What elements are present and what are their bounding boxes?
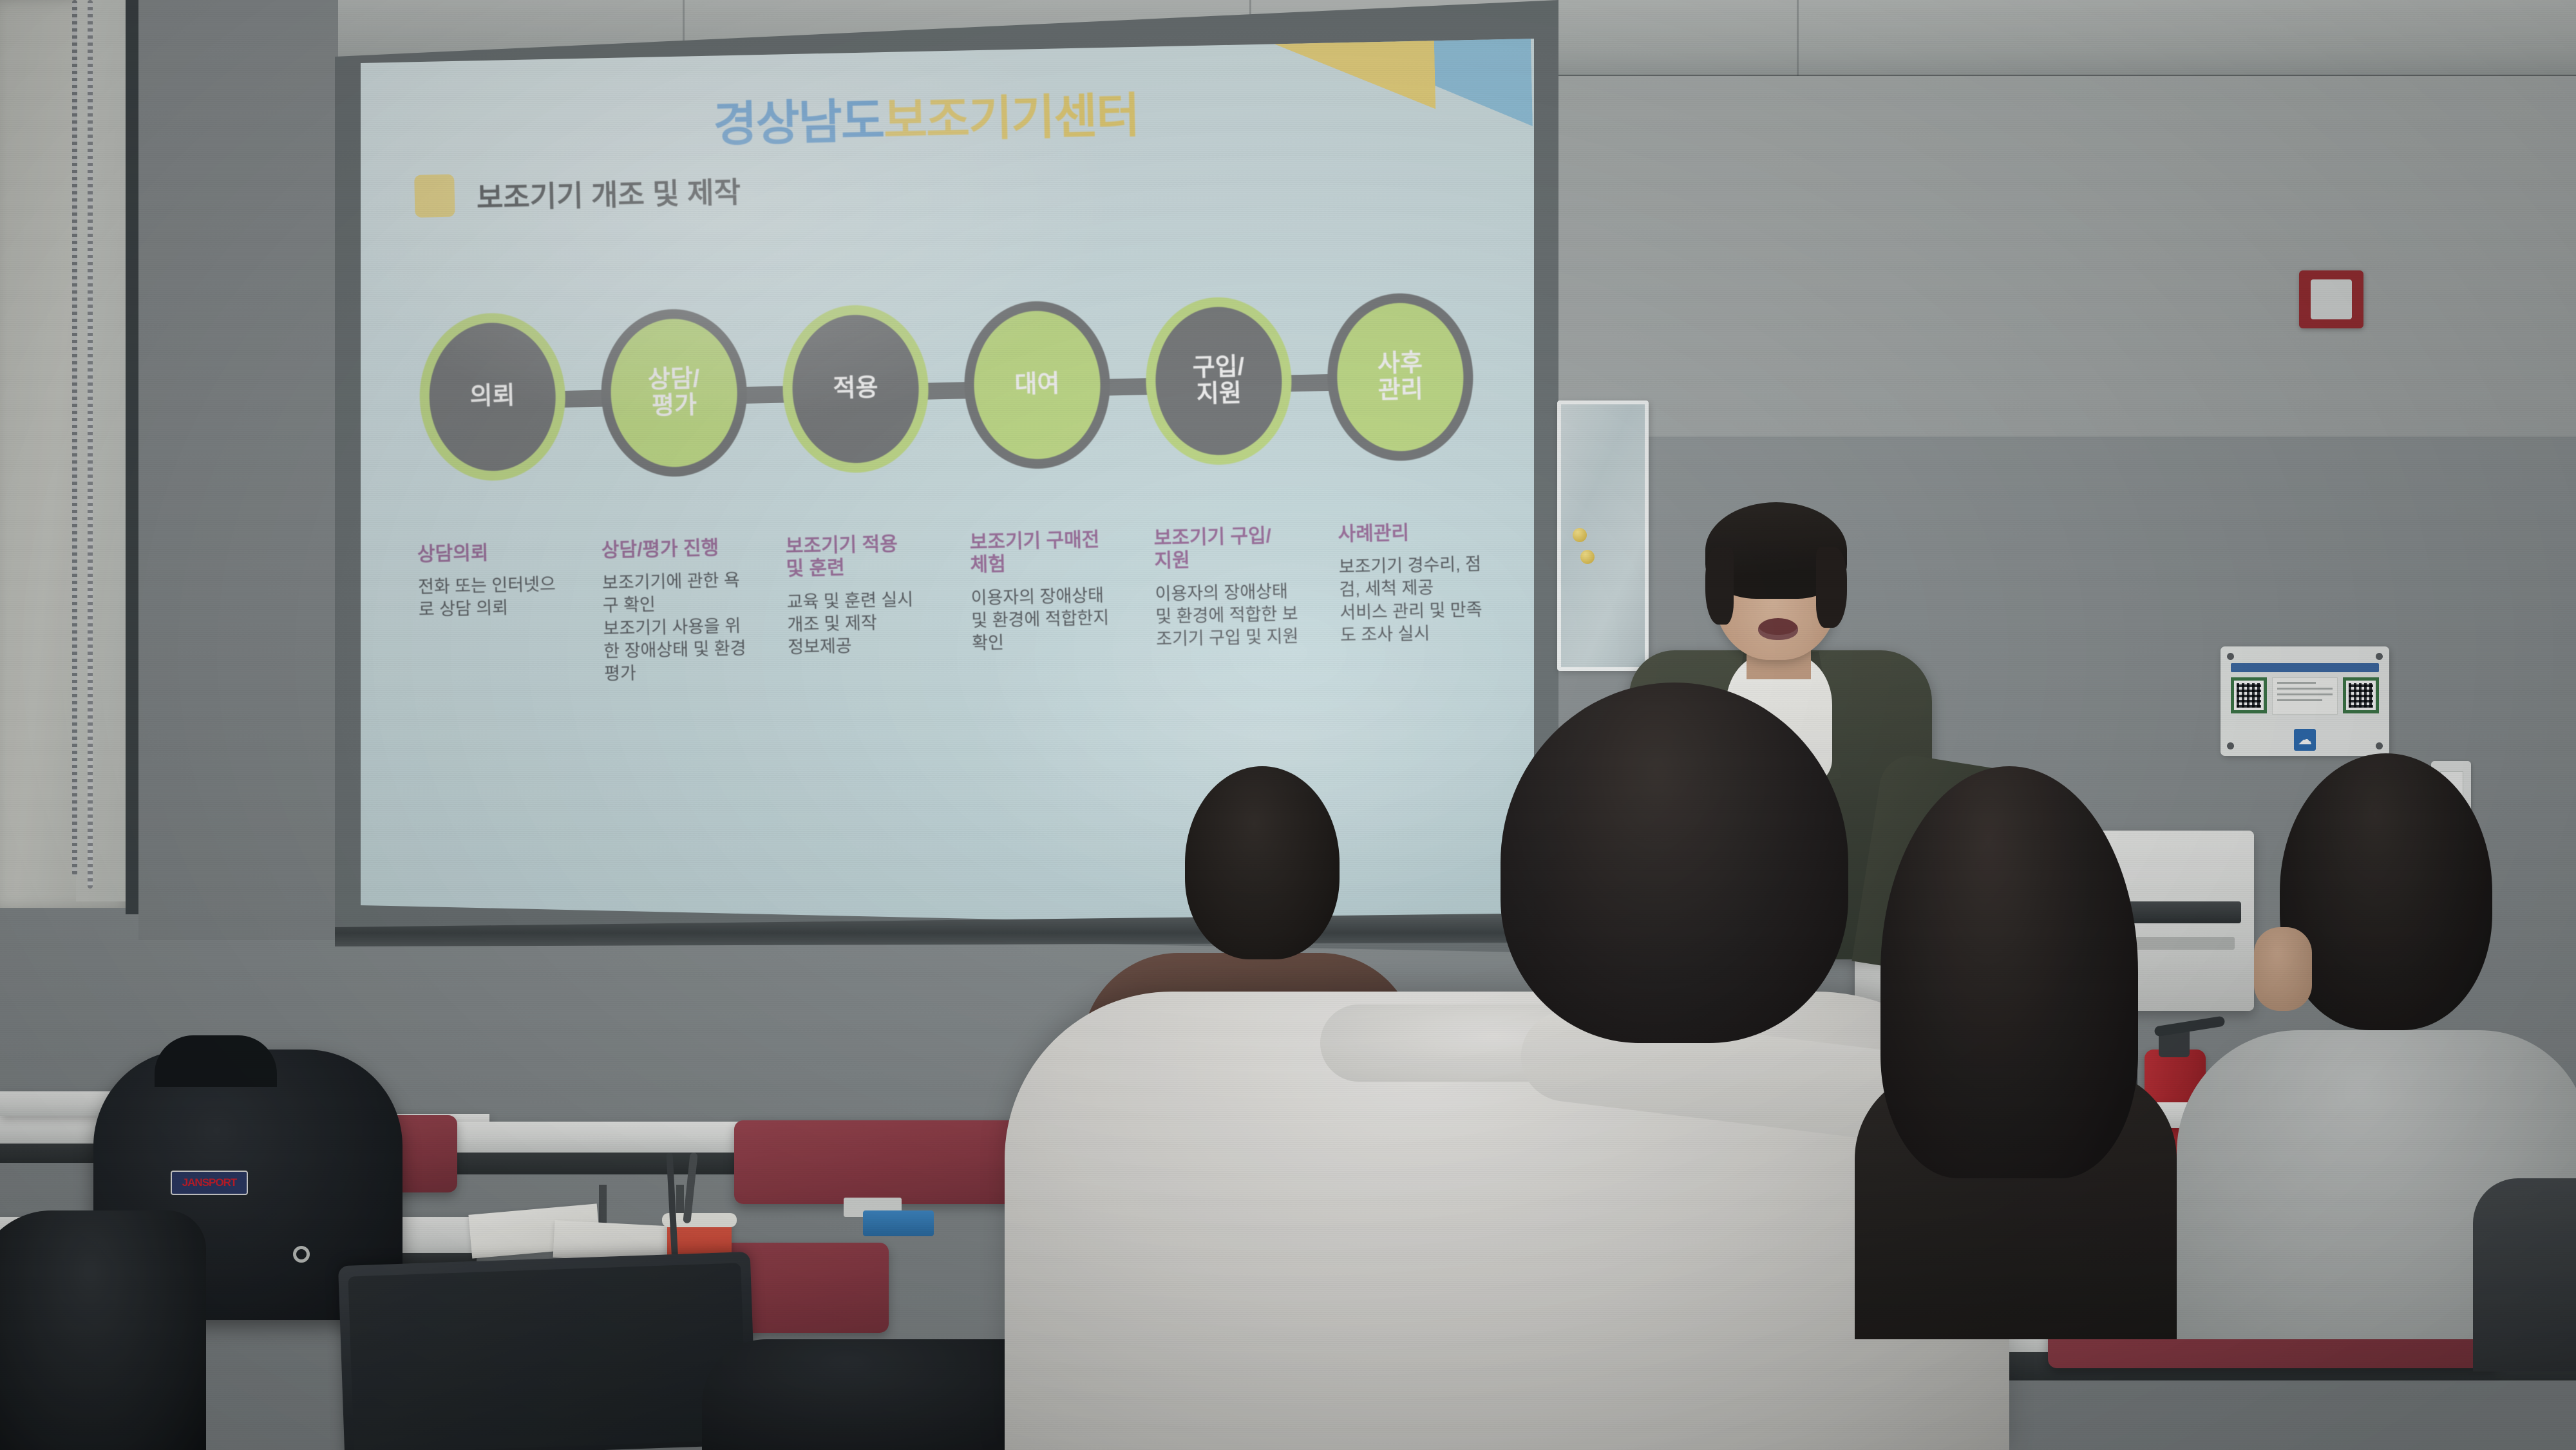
sign-text-block xyxy=(2272,677,2338,715)
student-head xyxy=(1501,683,1848,1043)
slide-title-region: 경상남도 xyxy=(713,94,884,151)
coat-on-chair xyxy=(0,1210,206,1450)
description-heading: 보조기기 적용 및 훈련 xyxy=(786,532,947,581)
description-heading: 사례관리 xyxy=(1338,520,1499,546)
student-head xyxy=(1880,766,2138,1178)
blind-chain-cord[interactable] xyxy=(72,0,77,876)
presenter-hair-side xyxy=(1705,547,1734,625)
chain-connector xyxy=(1282,374,1338,392)
classroom-photo-scene: 경상남도보조기기센터 보조기기 개조 및 제작 의뢰 상담/평가 적용 대여 구… xyxy=(0,0,2576,1450)
process-description-1: 상담의뢰 전화 또는 인터넷으 로 상담 의뢰 xyxy=(417,540,580,622)
process-description-5: 보조기기 구입/ 지원 이용자의 장애상태 및 환경에 적합한 보 조기기 구입… xyxy=(1153,523,1320,651)
backpack-brand-text: JANSPORT xyxy=(182,1176,237,1189)
process-node-label: 적용 xyxy=(833,375,878,403)
backpack-zipper-pull[interactable] xyxy=(293,1246,310,1263)
qr-code-icon xyxy=(2231,677,2267,713)
window-frame xyxy=(126,0,140,914)
emergency-alarm-box[interactable] xyxy=(2299,270,2363,328)
description-body: 교육 및 훈련 실시 개조 및 제작 정보제공 xyxy=(786,588,949,659)
process-description-2: 상담/평가 진행 보조기기에 관한 욕 구 확인 보조기기 사용을 위 한 장애… xyxy=(601,536,766,685)
magnet-icon[interactable] xyxy=(1573,528,1587,542)
description-body: 이용자의 장애상태 및 환경에 적합한지 확인 xyxy=(971,583,1136,655)
process-node-2: 상담/평가 xyxy=(609,317,739,468)
process-node-6: 사후관리 xyxy=(1336,302,1465,453)
screw-icon xyxy=(2227,742,2234,749)
wall-left-section xyxy=(138,0,338,940)
slide-decoration-top-right-yellow xyxy=(1254,39,1436,113)
chain-connector xyxy=(1100,378,1156,396)
process-description-4: 보조기기 구매전 체험 이용자의 장애상태 및 환경에 적합한지 확인 xyxy=(969,528,1136,655)
chain-connector xyxy=(737,386,793,404)
alarm-faceplate xyxy=(2311,279,2352,319)
wall-upper-section xyxy=(1533,76,2576,437)
wall-information-sign: ☁ xyxy=(2221,646,2389,756)
projection-screen-surface: 경상남도보조기기센터 보조기기 개조 및 제작 의뢰 상담/평가 적용 대여 구… xyxy=(361,39,1534,940)
magnet-icon[interactable] xyxy=(1580,550,1595,564)
screw-icon xyxy=(2227,653,2234,660)
backpack-handle xyxy=(155,1035,277,1087)
process-node-label: 구입/지원 xyxy=(1192,354,1245,408)
laptop-display xyxy=(348,1263,746,1450)
slide-title-center: 보조기기센터 xyxy=(883,88,1139,147)
presenter-hair-side xyxy=(1816,547,1847,628)
backpack-brand-label: JANSPORT xyxy=(171,1171,248,1195)
qr-code-icon xyxy=(2343,677,2379,713)
presenter-mouth xyxy=(1758,618,1798,640)
description-body: 보조기기 경수리, 점 검, 세척 제공 서비스 관리 및 만족 도 조사 실시 xyxy=(1338,553,1501,647)
process-node-5: 구입/지원 xyxy=(1154,306,1283,457)
sign-body xyxy=(2231,677,2379,715)
slide-content: 경상남도보조기기센터 보조기기 개조 및 제작 의뢰 상담/평가 적용 대여 구… xyxy=(361,42,1534,940)
process-description-3: 보조기기 적용 및 훈련 교육 및 훈련 실시 개조 및 제작 정보제공 xyxy=(786,532,949,659)
pencil-case[interactable] xyxy=(863,1210,934,1236)
screw-icon xyxy=(2376,742,2383,749)
chain-connector xyxy=(556,390,612,408)
slide-subtitle-row: 보조기기 개조 및 제작 xyxy=(414,168,741,218)
wifi-logo-icon: ☁ xyxy=(2294,729,2316,751)
description-heading: 상담의뢰 xyxy=(417,540,579,567)
slide-title: 경상남도보조기기센터 xyxy=(712,77,1139,155)
process-description-row: 상담의뢰 전화 또는 인터넷으 로 상담 의뢰 상담/평가 진행 보조기기에 관… xyxy=(417,520,1512,543)
student-hand xyxy=(2254,927,2312,1011)
sign-header-bar xyxy=(2231,663,2379,672)
blind-chain-cord[interactable] xyxy=(88,0,93,889)
whiteboard[interactable] xyxy=(1557,400,1649,671)
screw-icon xyxy=(2376,653,2383,660)
square-bullet-icon xyxy=(414,174,455,218)
chain-connector xyxy=(918,382,974,400)
description-heading: 보조기기 구매전 체험 xyxy=(969,528,1134,577)
slide-subtitle: 보조기기 개조 및 제작 xyxy=(476,168,741,216)
process-description-6: 사례관리 보조기기 경수리, 점 검, 세척 제공 서비스 관리 및 만족 도 … xyxy=(1338,520,1501,646)
ceiling-tile-line xyxy=(1797,0,1799,77)
process-node-label: 의뢰 xyxy=(469,383,515,411)
process-node-label: 사후관리 xyxy=(1378,350,1424,404)
description-body: 보조기기에 관한 욕 구 확인 보조기기 사용을 위 한 장애상태 및 환경 평… xyxy=(602,569,766,686)
description-heading: 상담/평가 진행 xyxy=(601,536,763,562)
description-body: 전화 또는 인터넷으 로 상담 의뢰 xyxy=(418,573,580,622)
process-node-3: 적용 xyxy=(791,314,920,464)
student-head xyxy=(1185,766,1340,959)
process-node-4: 대여 xyxy=(972,310,1102,460)
student-torso xyxy=(2473,1178,2576,1371)
description-heading: 보조기기 구입/ 지원 xyxy=(1153,523,1318,572)
chair[interactable] xyxy=(734,1120,1050,1204)
description-body: 이용자의 장애상태 및 환경에 적합한 보 조기기 구입 및 지원 xyxy=(1155,579,1320,651)
process-node-label: 대여 xyxy=(1014,372,1060,399)
process-node-label: 상담/평가 xyxy=(647,366,700,420)
process-flow-diagram: 의뢰 상담/평가 적용 대여 구입/지원 사후관리 xyxy=(428,301,1487,479)
process-node-1: 의뢰 xyxy=(428,321,557,472)
